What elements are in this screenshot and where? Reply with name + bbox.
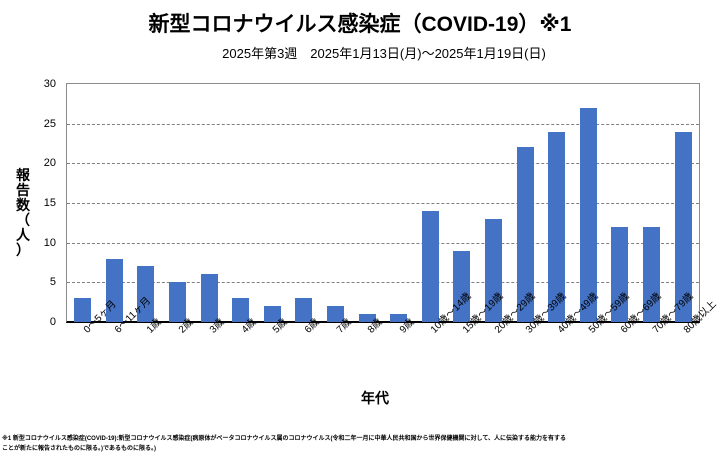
bar-slot bbox=[509, 84, 541, 322]
y-axis-tick-label: 20 bbox=[44, 157, 56, 169]
footnote-line-2: ことが新たに報告されたものに限る。)であるものに限る。) bbox=[2, 444, 718, 454]
covid19-age-distribution-chart: 新型コロナウイルス感染症（COVID-19）※1 2025年第3週 2025年1… bbox=[0, 0, 720, 474]
bar-slot bbox=[415, 84, 447, 322]
bar-series bbox=[67, 84, 699, 322]
bar-slot bbox=[573, 84, 605, 322]
bar-slot bbox=[320, 84, 352, 322]
chart-subtitle: 2025年第3週 2025年1月13日(月)〜2025年1月19日(日) bbox=[0, 43, 720, 62]
y-axis-ticks: 051015202530 bbox=[0, 83, 62, 323]
bar[interactable] bbox=[422, 211, 439, 322]
bar-slot bbox=[478, 84, 510, 322]
bar-slot bbox=[225, 84, 257, 322]
x-axis-ticks: 0〜5ヶ月6〜11ヶ月1歳2歳3歳4歳5歳6歳7歳8歳9歳10歳〜14歳15歳〜… bbox=[67, 323, 699, 385]
bar-slot bbox=[257, 84, 289, 322]
y-axis-tick-label: 25 bbox=[44, 118, 56, 130]
bar-slot bbox=[193, 84, 225, 322]
y-axis-tick-label: 30 bbox=[44, 78, 56, 90]
footnote: ※1 新型コロナウイルス感染症(COVID-19):新型コロナウイルス感染症(病… bbox=[2, 434, 718, 454]
bar-slot bbox=[541, 84, 573, 322]
bar-slot bbox=[604, 84, 636, 322]
footnote-line-1: ※1 新型コロナウイルス感染症(COVID-19):新型コロナウイルス感染症(病… bbox=[2, 434, 718, 444]
page-title: 新型コロナウイルス感染症（COVID-19）※1 bbox=[0, 8, 720, 38]
y-axis-tick-label: 10 bbox=[44, 237, 56, 249]
bar-slot bbox=[288, 84, 320, 322]
bar-slot bbox=[636, 84, 668, 322]
y-axis-tick-label: 5 bbox=[50, 276, 56, 288]
x-axis-title: 年代 bbox=[0, 388, 720, 408]
bar-slot bbox=[351, 84, 383, 322]
bar-slot bbox=[446, 84, 478, 322]
bar-slot bbox=[162, 84, 194, 322]
bar-slot bbox=[667, 84, 699, 322]
bar-slot bbox=[99, 84, 131, 322]
bar-slot bbox=[383, 84, 415, 322]
bar-slot bbox=[130, 84, 162, 322]
bar-slot bbox=[67, 84, 99, 322]
y-axis-tick-label: 15 bbox=[44, 197, 56, 209]
y-axis-tick-label: 0 bbox=[50, 316, 56, 328]
